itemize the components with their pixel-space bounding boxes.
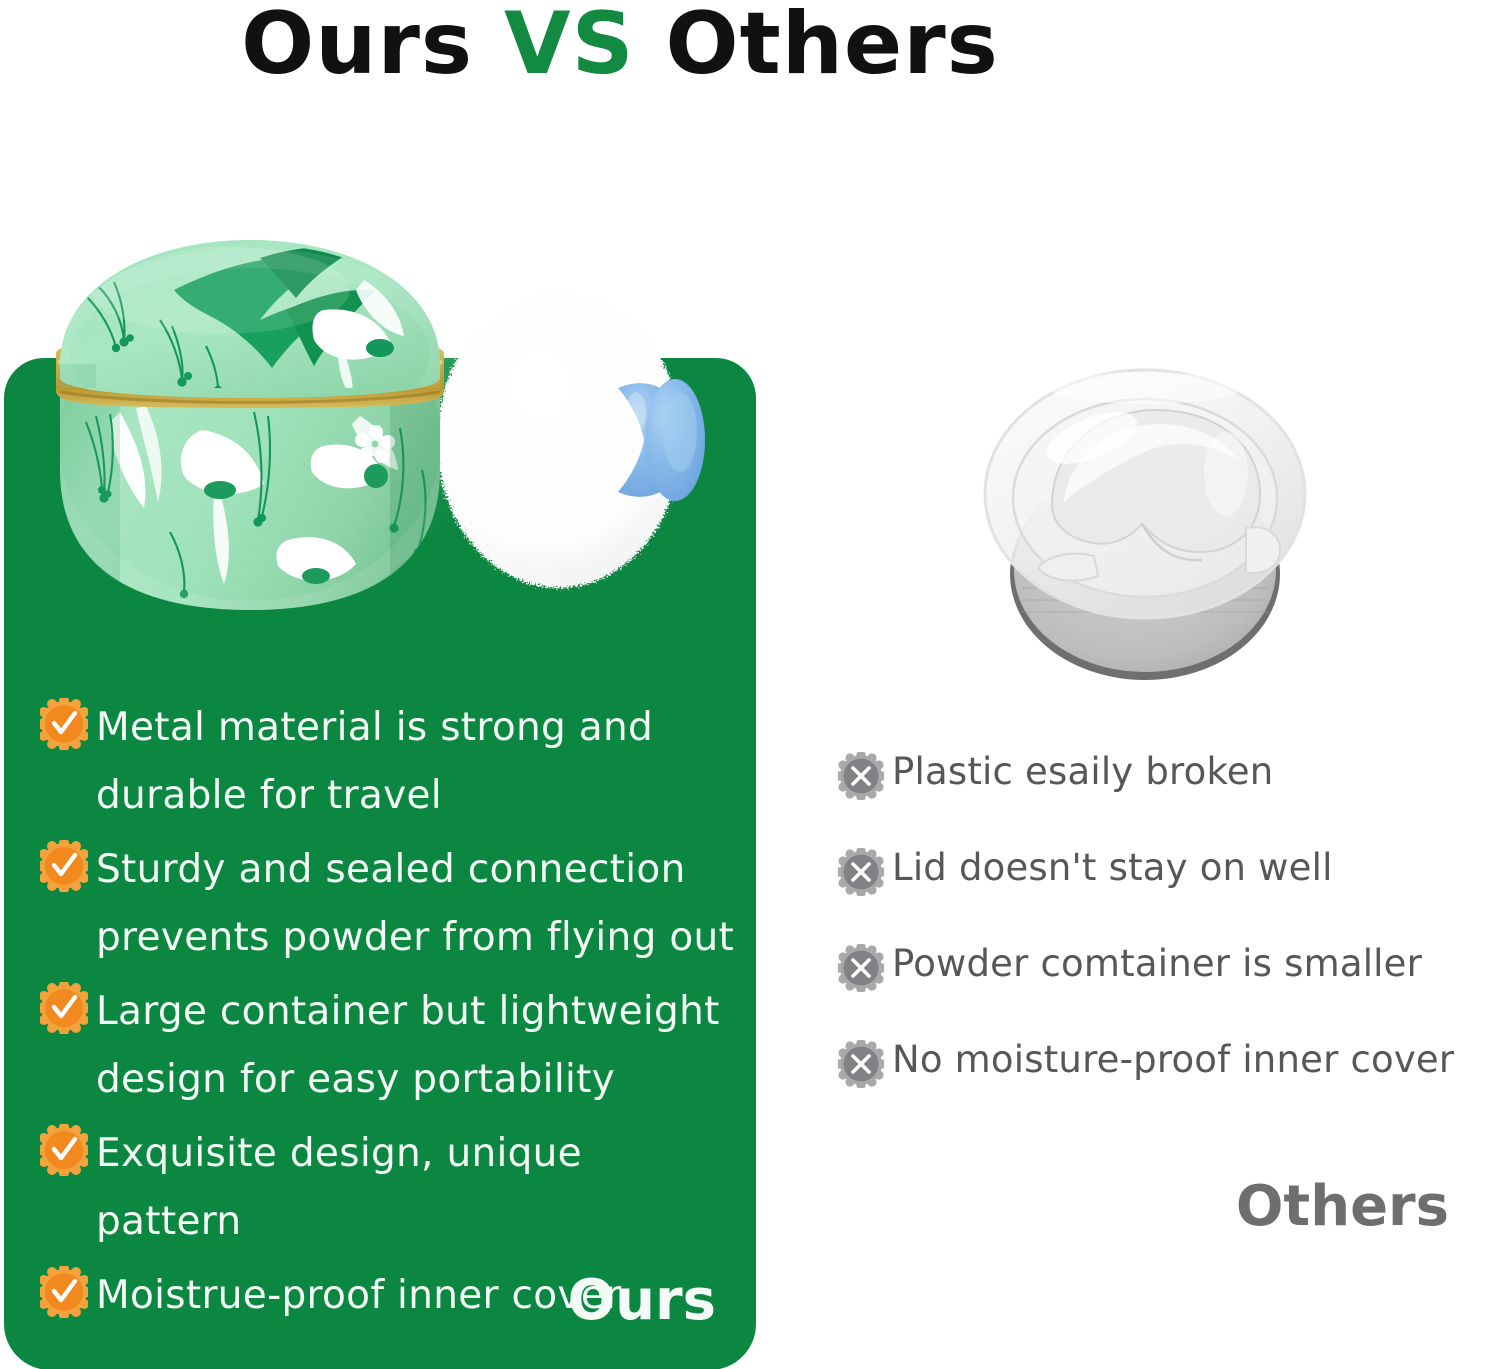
list-item: Lid doesn't stay on well — [838, 844, 1478, 896]
comparison-infographic: Ours VS Others — [0, 0, 1500, 1369]
list-item-label: Lid doesn't stay on well — [892, 844, 1333, 892]
clear-plastic-lid — [985, 370, 1305, 618]
caption-ours: Ours — [0, 1268, 716, 1333]
cross-badge-icon — [838, 1040, 884, 1088]
feature-list-ours: Metal material is strong and durable for… — [40, 694, 740, 1336]
list-item: Metal material is strong and durable for… — [40, 694, 740, 830]
list-item-label: Plastic esaily broken — [892, 748, 1273, 796]
plastic-case-svg — [960, 352, 1340, 702]
check-badge-icon — [40, 698, 88, 750]
list-item-label: Metal material is strong and durable for… — [96, 694, 740, 830]
title-ours: Ours — [241, 0, 473, 94]
title-others: Others — [665, 0, 998, 94]
list-item: Sturdy and sealed connection prevents po… — [40, 836, 740, 972]
list-item-label: Sturdy and sealed connection prevents po… — [96, 836, 740, 972]
list-item-label: Large container but lightweight design f… — [96, 978, 740, 1114]
floral-tin-svg — [24, 140, 764, 660]
list-item-label: No moisture-proof inner cover — [892, 1036, 1454, 1084]
list-item: Large container but lightweight design f… — [40, 978, 740, 1114]
cross-badge-icon — [838, 848, 884, 896]
check-badge-icon — [40, 1124, 88, 1176]
check-badge-icon — [40, 982, 88, 1034]
cross-badge-icon — [838, 752, 884, 800]
feature-list-others: Plastic esaily broken — [838, 748, 1478, 1132]
list-item: Plastic esaily broken — [838, 748, 1478, 800]
product-image-ours — [24, 140, 764, 660]
list-item-label: Powder comtainer is smaller — [892, 940, 1422, 988]
check-badge-icon — [40, 840, 88, 892]
list-item: Powder comtainer is smaller — [838, 940, 1478, 992]
powder-puff — [437, 292, 705, 588]
page-title: Ours VS Others — [0, 0, 1240, 94]
list-item: No moisture-proof inner cover — [838, 1036, 1478, 1088]
title-vs: VS — [504, 0, 635, 94]
product-image-others — [960, 352, 1340, 702]
caption-others: Others — [0, 1174, 1449, 1239]
cross-badge-icon — [838, 944, 884, 992]
